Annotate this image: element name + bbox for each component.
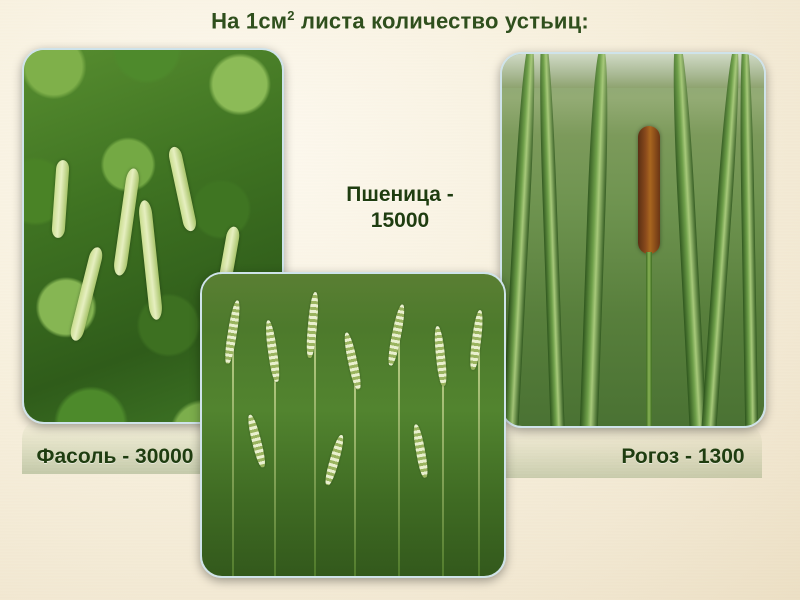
label-beans: Фасоль - 30000	[30, 444, 200, 470]
wheat-field-photo-inner	[202, 274, 504, 576]
label-cattail: Рогоз - 1300	[598, 444, 768, 470]
wheat-field-background	[202, 274, 504, 576]
page-title-prefix: На 1см	[211, 8, 287, 33]
cattail-photo	[500, 52, 766, 428]
wheat-stem	[354, 366, 356, 576]
wheat-stem	[478, 344, 480, 576]
page-title-superscript: 2	[287, 8, 294, 23]
wheat-stem	[232, 334, 234, 576]
wheat-stem	[398, 340, 400, 576]
page-title-suffix: листа количество устьиц:	[295, 8, 589, 33]
cattail-stem	[646, 252, 652, 426]
wheat-stem	[274, 354, 276, 576]
wheat-field-photo	[200, 272, 506, 578]
label-wheat: Пшеница - 15000	[320, 182, 480, 233]
wheat-stem	[442, 360, 444, 576]
cattail-photo-inner	[502, 54, 764, 426]
wheat-stem	[314, 326, 316, 576]
slide: На 1см2 листа количество устьиц:	[0, 0, 800, 600]
cattail-spike	[638, 126, 660, 254]
page-title: На 1см2 листа количество устьиц:	[0, 8, 800, 34]
